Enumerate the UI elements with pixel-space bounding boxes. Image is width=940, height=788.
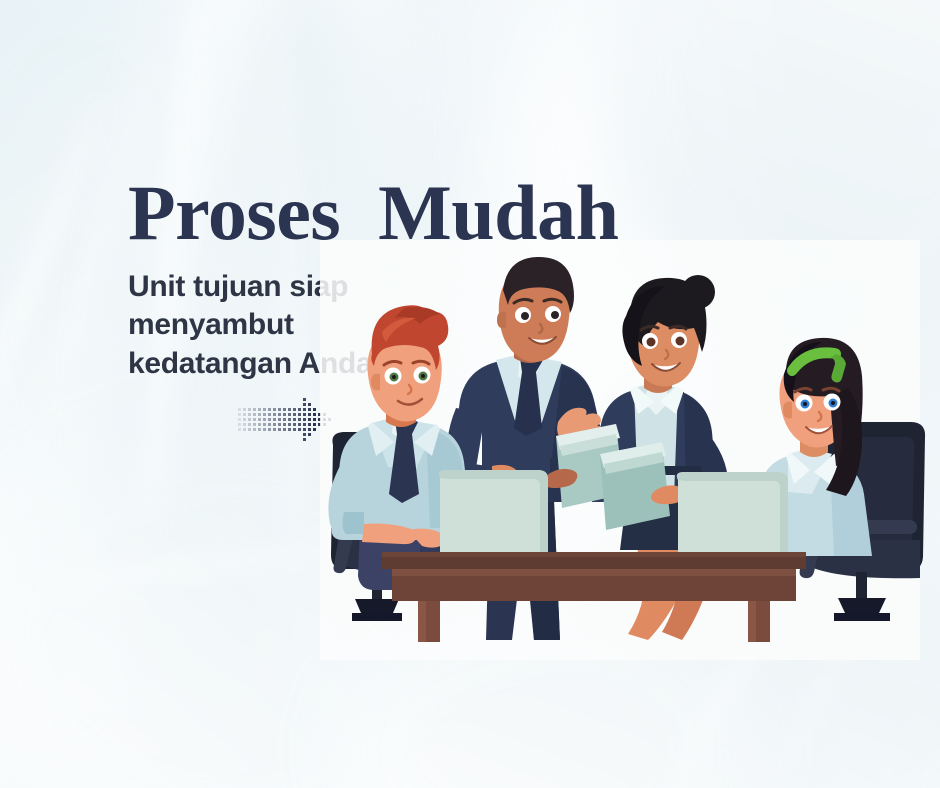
laptop-right bbox=[666, 472, 798, 561]
laptop-left bbox=[428, 470, 558, 561]
slide-canvas: Proses Mudah Unit tujuan siap menyambut … bbox=[0, 0, 940, 788]
business-team-meeting-illustration bbox=[300, 240, 940, 660]
